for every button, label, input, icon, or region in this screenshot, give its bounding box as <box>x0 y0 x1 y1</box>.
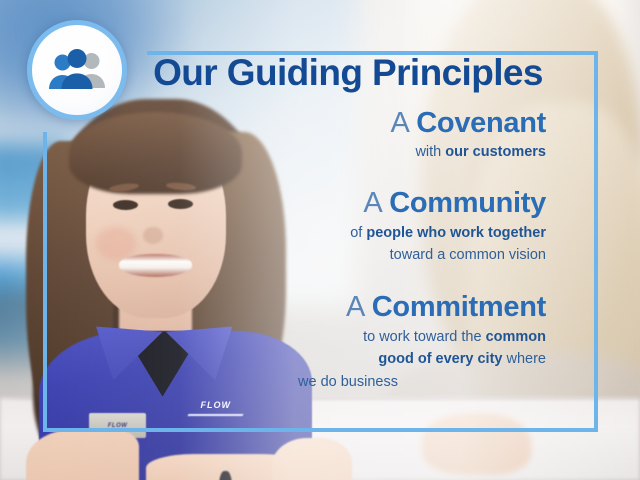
people-group-badge <box>27 20 127 120</box>
principle-block-commitment: A Commitment to work toward the common g… <box>150 291 546 392</box>
principle-heading-commitment: A Commitment <box>150 291 546 325</box>
subline-text: we do business <box>298 374 398 390</box>
principle-subline: good of every city where <box>150 350 546 369</box>
subline-text: toward a common vision <box>390 247 546 263</box>
employee-arm-left <box>26 430 139 480</box>
principle-subline: we do business <box>150 373 546 392</box>
principle-word: Covenant <box>416 107 546 139</box>
page-title: Our Guiding Principles <box>150 54 546 93</box>
principle-word: Commitment <box>372 291 546 323</box>
name-badge-text: FLOW <box>108 423 128 429</box>
subline-text: where <box>502 351 546 367</box>
principle-article: A <box>390 107 408 139</box>
uniform-logo-text: FLOW <box>201 400 232 410</box>
subline-text-bold: people who work together <box>366 225 546 241</box>
principle-article: A <box>346 291 364 323</box>
subline-text: with <box>415 144 445 160</box>
principle-block-covenant: A Covenant with our customers <box>150 107 546 163</box>
principle-article: A <box>363 187 381 219</box>
subline-text-bold: common <box>486 329 546 345</box>
principle-word: Community <box>389 187 546 219</box>
principle-subline: of people who work together <box>150 224 546 243</box>
employee-hands <box>272 438 352 480</box>
subline-text: to work toward the <box>363 329 486 345</box>
principle-subline: to work toward the common <box>150 328 546 347</box>
subline-text-bold: our customers <box>445 144 546 160</box>
principle-subline: toward a common vision <box>150 246 546 265</box>
employee-eye-left <box>113 200 138 210</box>
subline-text: of <box>350 225 366 241</box>
banner-graphic: FLOW FLOW <box>0 0 640 480</box>
text-content: Our Guiding Principles A Covenant with o… <box>150 54 546 398</box>
principle-heading-covenant: A Covenant <box>150 107 546 141</box>
people-group-icon <box>46 48 108 92</box>
principle-heading-community: A Community <box>150 187 546 221</box>
subline-text-bold: good of every city <box>378 351 502 367</box>
principle-subline: with our customers <box>150 143 546 162</box>
customer-hand <box>422 413 531 475</box>
principle-block-community: A Community of people who work together … <box>150 187 546 265</box>
